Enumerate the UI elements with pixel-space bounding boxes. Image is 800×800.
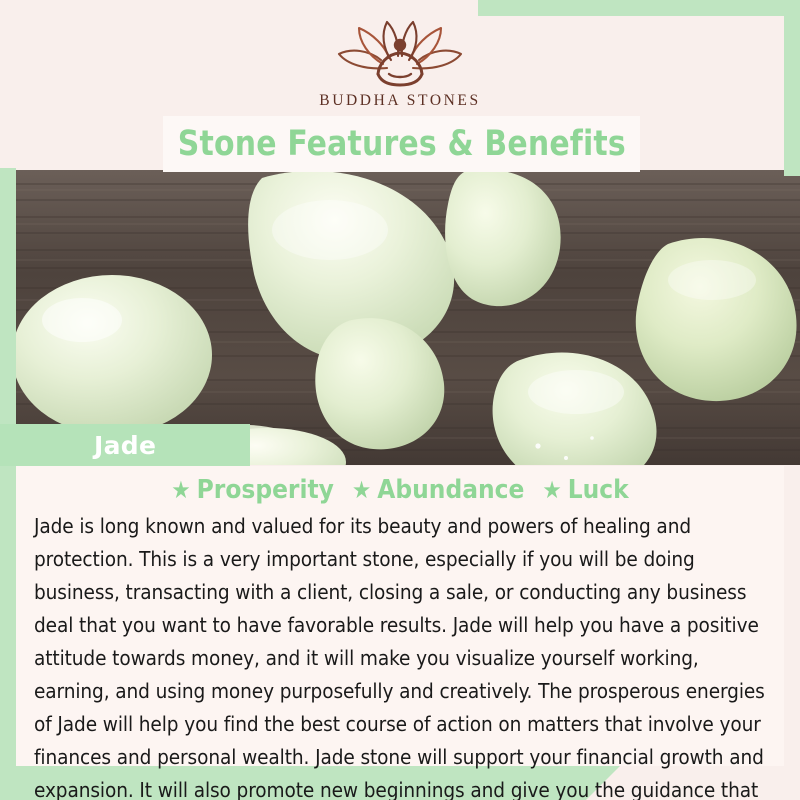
keyword-label: Abundance	[377, 475, 524, 505]
keyword-luck: ★ Luck	[542, 475, 628, 505]
keyword-label: Luck	[568, 475, 629, 505]
title-banner: Stone Features & Benefits	[163, 116, 640, 172]
decorative-band-left	[0, 168, 16, 778]
decorative-band-top	[478, 0, 800, 16]
jade-stones-illustration	[0, 170, 800, 465]
star-icon: ★	[171, 478, 190, 502]
keyword-prosperity: ★ Prosperity	[171, 475, 334, 505]
content-panel: ★ Prosperity ★ Abundance ★ Luck Jade is …	[16, 466, 784, 766]
star-icon: ★	[352, 478, 371, 502]
brand-name: BUDDHA STONES	[319, 92, 480, 110]
stone-description: Jade is long known and valued for its be…	[34, 510, 770, 800]
brand-logo: BUDDHA STONES	[0, 18, 800, 118]
star-icon: ★	[542, 478, 561, 502]
product-info-poster: BUDDHA STONES Stone Features & Benefits	[0, 0, 800, 800]
keyword-list: ★ Prosperity ★ Abundance ★ Luck	[16, 472, 784, 508]
stone-name: Jade	[94, 431, 156, 460]
keyword-abundance: ★ Abundance	[352, 475, 524, 505]
stone-name-tag: Jade	[0, 424, 250, 466]
keyword-label: Prosperity	[197, 475, 334, 505]
page-title: Stone Features & Benefits	[177, 124, 625, 164]
lotus-meditation-icon	[325, 18, 475, 90]
stone-photo	[0, 170, 800, 465]
